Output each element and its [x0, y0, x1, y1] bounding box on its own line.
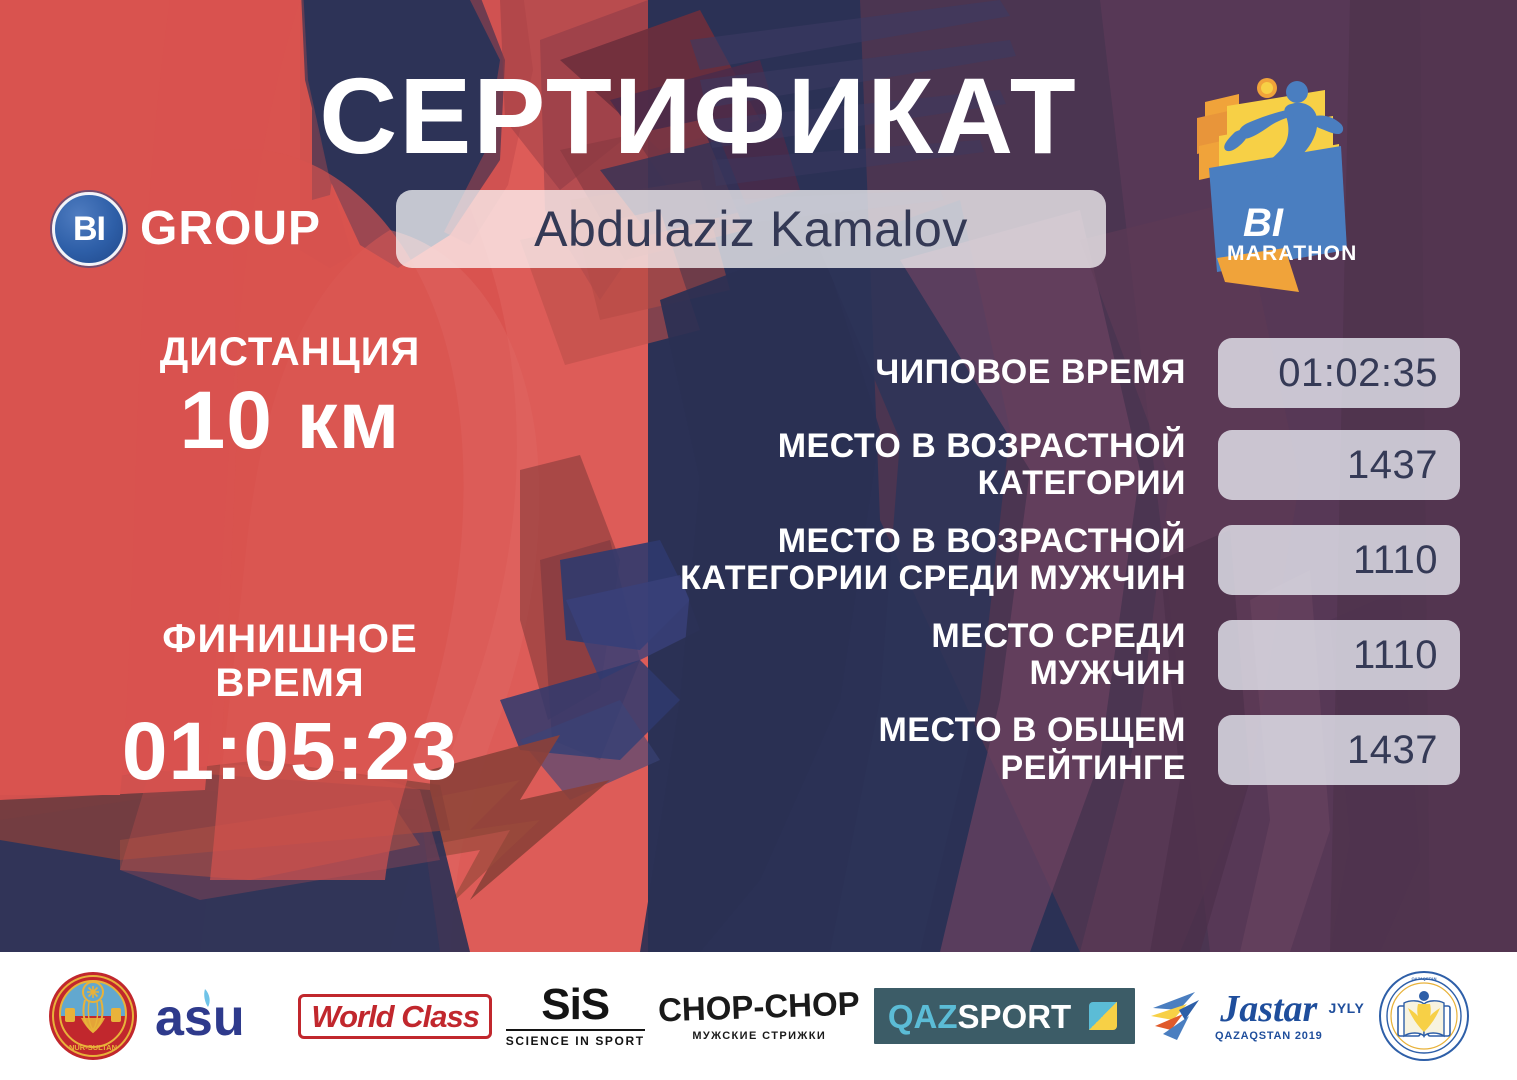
stat-row: МЕСТО В ВОЗРАСТНОЙ КАТЕГОРИИ СРЕДИ МУЖЧИ…	[520, 523, 1460, 598]
age-category-place-label: МЕСТО В ВОЗРАСТНОЙ КАТЕГОРИИ	[520, 428, 1218, 503]
sponsor-sis: SiS SCIENCE IN SPORT	[506, 968, 645, 1064]
qazsport-tile-icon	[1083, 996, 1123, 1036]
stat-row: МЕСТО В ОБЩЕМ РЕЙТИНГЕ 1437	[520, 712, 1460, 787]
overall-place-pill: 1437	[1218, 715, 1460, 785]
distance-label: ДИСТАНЦИЯ	[30, 330, 550, 375]
svg-text:QAZAQSTAN: QAZAQSTAN	[1412, 976, 1437, 981]
asu-wordmark: asu	[155, 989, 245, 1047]
age-category-men-place-pill: 1110	[1218, 525, 1460, 595]
finish-time-value: 01:05:23	[30, 706, 550, 798]
chop-chop-tagline: МУЖСКИЕ СТРИЖКИ	[658, 1030, 860, 1042]
chip-time-label: ЧИПОВОЕ ВРЕМЯ	[520, 354, 1218, 391]
bi-badge-label: BI	[73, 212, 105, 246]
age-category-men-place-value: 1110	[1353, 540, 1438, 580]
certificate-card: BI GROUP СЕРТИФИКАТ Abdulaziz Kamalov	[0, 0, 1517, 1080]
overall-place-value: 1437	[1347, 730, 1438, 770]
jastar-tagline: QAZAQSTAN 2019	[1215, 1030, 1323, 1042]
sponsor-world-class: World Class	[298, 968, 492, 1064]
chip-time-pill: 01:02:35	[1218, 338, 1460, 408]
qazsport-label-qaz: QAZ	[888, 1000, 958, 1033]
svg-text:MARATHON: MARATHON	[1227, 242, 1358, 265]
bi-group-logo: BI GROUP	[52, 192, 321, 266]
bi-group-wordmark: GROUP	[140, 205, 321, 253]
age-category-place-value: 1437	[1347, 445, 1438, 485]
world-class-box: World Class	[298, 994, 492, 1039]
distance-block: ДИСТАНЦИЯ 10 км	[30, 330, 550, 467]
svg-text:BI: BI	[1243, 201, 1284, 245]
certificate-content: BI GROUP СЕРТИФИКАТ Abdulaziz Kamalov	[0, 0, 1517, 952]
sponsor-jastar: Jastar QAZAQSTAN 2019 JYLY	[1149, 968, 1364, 1064]
left-stats-column: ДИСТАНЦИЯ 10 км ФИНИШНОЕ ВРЕМЯ 01:05:23	[30, 330, 550, 798]
bi-marathon-logo: BI MARATHON	[1175, 60, 1375, 300]
finish-time-block: ФИНИШНОЕ ВРЕМЯ 01:05:23	[30, 617, 550, 798]
sponsor-nur-sultan-emblem: NUR-SULTAN	[47, 968, 139, 1064]
age-category-place-pill: 1437	[1218, 430, 1460, 500]
finish-time-label: ФИНИШНОЕ ВРЕМЯ	[30, 617, 550, 707]
right-stats-column: ЧИПОВОЕ ВРЕМЯ 01:02:35 МЕСТО В ВОЗРАСТНО…	[520, 338, 1460, 807]
qazsport-bar: QAZ SPORT	[874, 988, 1135, 1044]
participant-name: Abdulaziz Kamalov	[534, 204, 968, 254]
jastar-label: Jastar	[1215, 990, 1323, 1028]
overall-place-label: МЕСТО В ОБЩЕМ РЕЙТИНГЕ	[520, 712, 1218, 787]
stat-row: ЧИПОВОЕ ВРЕМЯ 01:02:35	[520, 338, 1460, 408]
participant-name-pill: Abdulaziz Kamalov	[396, 190, 1106, 268]
chop-chop-label: CHOP-CHOP	[658, 986, 861, 1026]
bi-badge-icon: BI	[52, 192, 126, 266]
jastar-bird-icon	[1149, 986, 1209, 1046]
age-category-men-place-label: МЕСТО В ВОЗРАСТНОЙ КАТЕГОРИИ СРЕДИ МУЖЧИ…	[520, 523, 1218, 598]
sis-label: SiS	[506, 984, 645, 1026]
sis-tagline: SCIENCE IN SPORT	[506, 1029, 645, 1048]
sponsor-chop-chop: CHOP-CHOP МУЖСКИЕ СТРИЖКИ	[658, 968, 860, 1064]
chip-time-value: 01:02:35	[1278, 353, 1438, 393]
stat-row: МЕСТО СРЕДИ МУЖЧИН 1110	[520, 618, 1460, 693]
sponsor-footer: NUR-SULTAN asu World Class SiS SCIENCE I…	[0, 952, 1517, 1080]
world-class-label: World Class	[311, 1001, 479, 1032]
sponsor-asu: asu	[153, 968, 285, 1064]
men-place-value: 1110	[1353, 635, 1438, 675]
distance-value: 10 км	[30, 375, 550, 467]
sponsor-qazsport: QAZ SPORT	[874, 968, 1135, 1064]
men-place-label: МЕСТО СРЕДИ МУЖЧИН	[520, 618, 1218, 693]
qazsport-label-sport: SPORT	[958, 1000, 1072, 1033]
jastar-jyly-label: JYLY	[1329, 1000, 1365, 1016]
stat-row: МЕСТО В ВОЗРАСТНОЙ КАТЕГОРИИ 1437	[520, 428, 1460, 503]
men-place-pill: 1110	[1218, 620, 1460, 690]
nur-sultan-label: NUR-SULTAN	[69, 1043, 117, 1052]
sponsor-ministry-emblem: QAZAQSTAN	[1378, 968, 1470, 1064]
